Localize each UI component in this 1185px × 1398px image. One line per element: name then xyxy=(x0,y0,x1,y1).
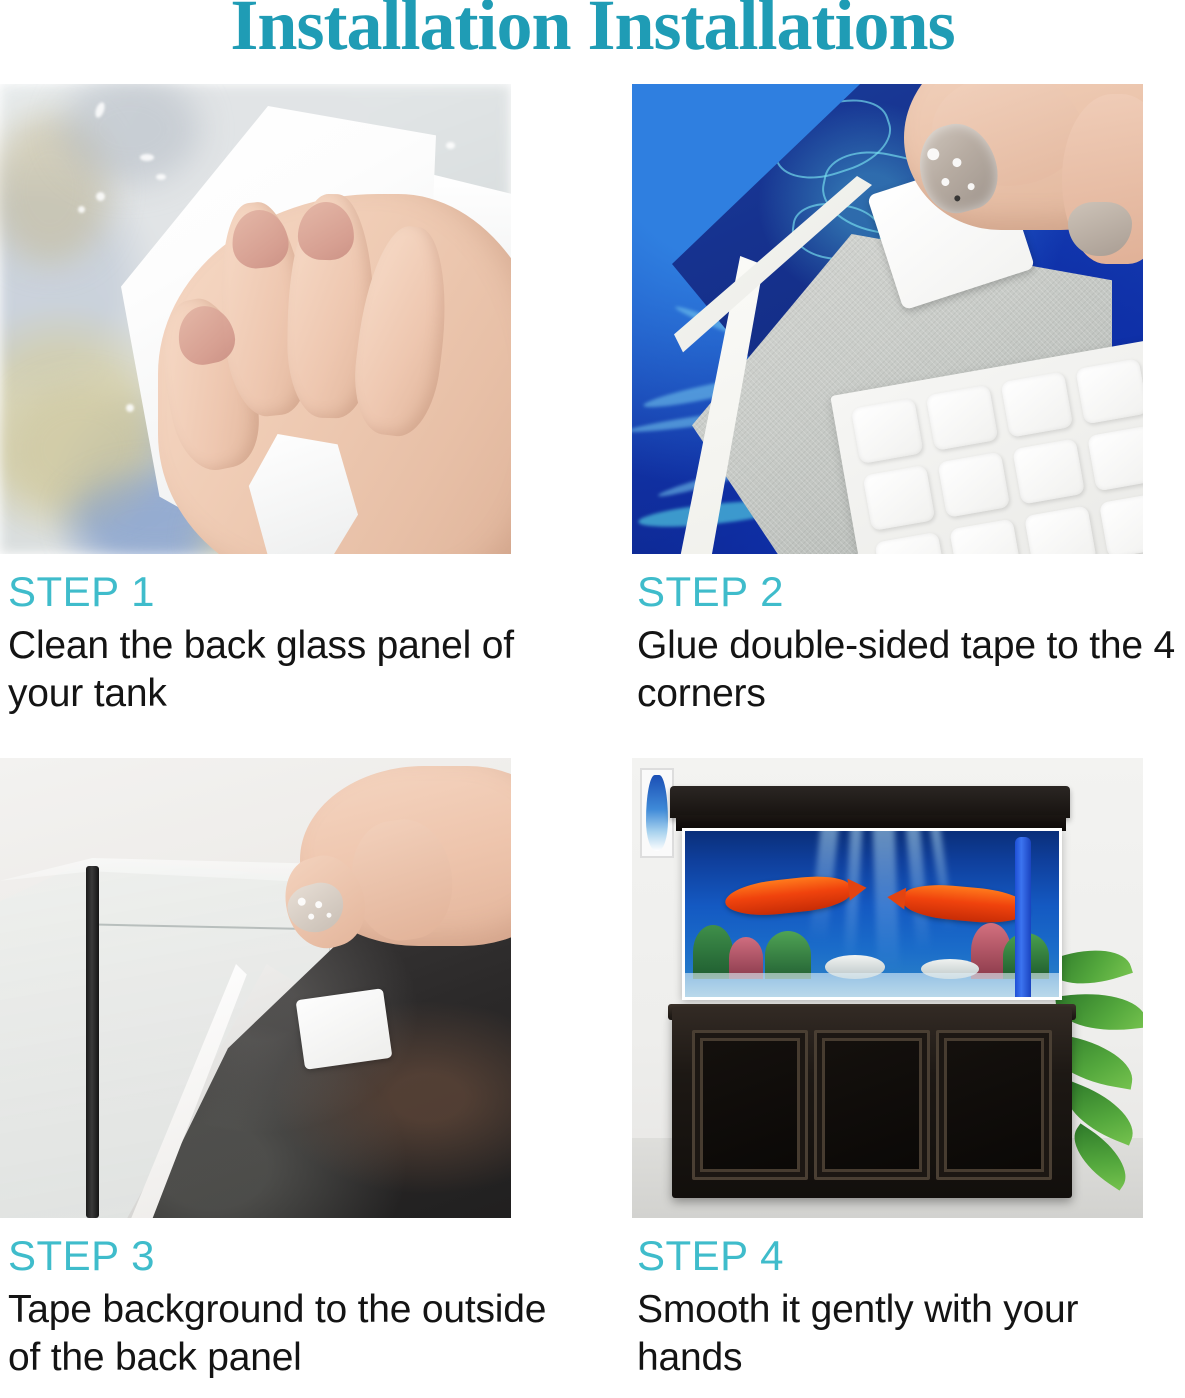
water-droplet xyxy=(140,154,154,161)
water-droplet xyxy=(78,206,85,213)
wall-art-frame xyxy=(640,768,674,858)
step-2-label: STEP 2 xyxy=(637,568,784,616)
tape-square xyxy=(1012,438,1085,504)
aquarium-hood xyxy=(670,786,1070,818)
coral-decor xyxy=(765,931,811,979)
aquarium-cabinet xyxy=(672,1008,1072,1198)
tape-square xyxy=(926,385,999,451)
tape-square xyxy=(874,532,947,554)
page-title: Installation Installations xyxy=(0,0,1185,67)
installation-guide-page: Installation Installations STEP 1 Clean … xyxy=(0,0,1185,1398)
tape-square xyxy=(937,452,1010,518)
black-corner-trim xyxy=(86,866,99,1218)
step-4-description: Smooth it gently with your hands xyxy=(637,1286,1177,1381)
step-4-image xyxy=(632,758,1143,1218)
tape-square xyxy=(296,988,393,1070)
tape-square xyxy=(851,398,924,464)
step-3-description: Tape background to the outside of the ba… xyxy=(8,1286,548,1381)
step-2-image xyxy=(632,84,1143,554)
step-3-label: STEP 3 xyxy=(8,1232,155,1280)
tape-square xyxy=(1024,505,1097,554)
step-3-image xyxy=(0,758,511,1218)
step-4-label: STEP 4 xyxy=(637,1232,784,1280)
water-droplet xyxy=(96,192,105,201)
water-droplet xyxy=(126,404,134,412)
blue-filter-tube xyxy=(1015,837,1031,1000)
step-2-description: Glue double-sided tape to the 4 corners xyxy=(637,622,1177,717)
cabinet-door-panel xyxy=(814,1030,930,1180)
tape-square xyxy=(1000,371,1073,437)
tape-square xyxy=(1099,492,1143,554)
step-1-image xyxy=(0,84,511,554)
tape-square xyxy=(949,519,1022,554)
cabinet-door-panel xyxy=(692,1030,808,1180)
aquarium-tank xyxy=(682,828,1062,1000)
water-droplet xyxy=(446,142,455,149)
orange-arowana-fish xyxy=(724,873,853,920)
cabinet-door-panel xyxy=(936,1030,1052,1180)
tape-square xyxy=(1075,358,1143,424)
step-1-label: STEP 1 xyxy=(8,568,155,616)
aquarium-sand xyxy=(685,973,1059,997)
coral-decor xyxy=(693,925,733,979)
tape-square xyxy=(1087,425,1143,491)
step-1-description: Clean the back glass panel of your tank xyxy=(8,622,548,717)
tape-square xyxy=(863,465,936,531)
water-droplet xyxy=(156,174,166,180)
